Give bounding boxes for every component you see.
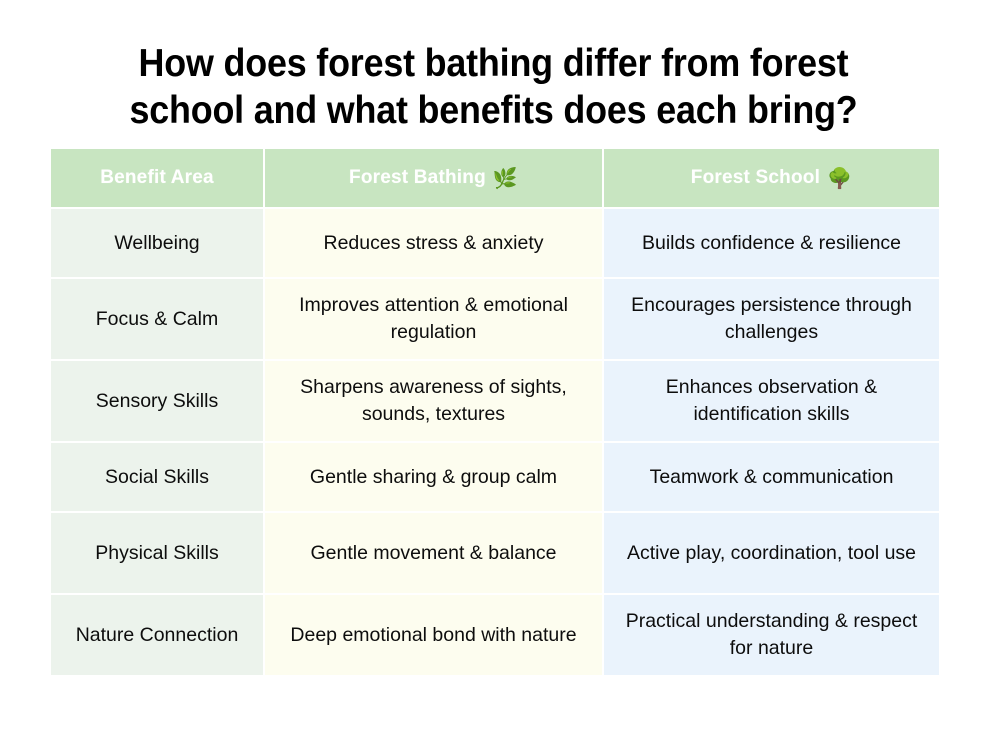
cell-forest-school: Builds confidence & resilience — [604, 209, 939, 277]
column-header-benefit-area-label: Benefit Area — [100, 167, 214, 189]
cell-benefit-area-text: Wellbeing — [63, 230, 251, 257]
cell-forest-bathing-text: Improves attention & emotional regulatio… — [277, 292, 590, 346]
cell-forest-school-text: Encourages persistence through challenge… — [616, 292, 927, 346]
deciduous-tree-icon: 🌳 — [827, 168, 852, 188]
slide-canvas: How does forest bathing differ from fore… — [0, 0, 987, 740]
cell-benefit-area: Physical Skills — [51, 513, 263, 593]
cell-benefit-area-text: Sensory Skills — [63, 388, 251, 415]
cell-forest-school-text: Enhances observation & identification sk… — [616, 374, 927, 428]
cell-benefit-area-text: Physical Skills — [63, 540, 251, 567]
page-title: How does forest bathing differ from fore… — [60, 40, 927, 134]
table-header: Benefit Area Forest Bathing 🌿 Forest Sch… — [51, 149, 939, 207]
cell-benefit-area-text: Social Skills — [63, 464, 251, 491]
herb-leaf-icon: 🌿 — [493, 168, 518, 188]
comparison-table: Benefit Area Forest Bathing 🌿 Forest Sch… — [49, 147, 941, 677]
cell-forest-school: Active play, coordination, tool use — [604, 513, 939, 593]
table-row: Social Skills Gentle sharing & group cal… — [51, 443, 939, 511]
cell-forest-bathing-text: Gentle movement & balance — [277, 540, 590, 567]
cell-forest-bathing: Gentle sharing & group calm — [265, 443, 602, 511]
cell-forest-bathing-text: Deep emotional bond with nature — [277, 622, 590, 649]
cell-forest-school-text: Teamwork & communication — [616, 464, 927, 491]
cell-forest-bathing-text: Sharpens awareness of sights, sounds, te… — [277, 374, 590, 428]
page-title-line-2: school and what benefits does each bring… — [95, 87, 893, 134]
cell-forest-bathing-text: Gentle sharing & group calm — [277, 464, 590, 491]
table-row: Focus & Calm Improves attention & emotio… — [51, 279, 939, 359]
cell-benefit-area-text: Nature Connection — [63, 622, 251, 649]
column-header-forest-bathing-label: Forest Bathing — [349, 167, 486, 189]
table-row: Sensory Skills Sharpens awareness of sig… — [51, 361, 939, 441]
cell-forest-school-text: Builds confidence & resilience — [616, 230, 927, 257]
column-header-forest-school: Forest School 🌳 — [604, 149, 939, 207]
cell-forest-school-text: Practical understanding & respect for na… — [616, 608, 927, 662]
column-header-forest-bathing: Forest Bathing 🌿 — [265, 149, 602, 207]
cell-benefit-area: Sensory Skills — [51, 361, 263, 441]
table-body: Wellbeing Reduces stress & anxiety Build… — [51, 209, 939, 675]
column-header-forest-school-label: Forest School — [691, 167, 820, 189]
table-header-row: Benefit Area Forest Bathing 🌿 Forest Sch… — [51, 149, 939, 207]
table-row: Physical Skills Gentle movement & balanc… — [51, 513, 939, 593]
cell-benefit-area: Social Skills — [51, 443, 263, 511]
cell-forest-bathing: Gentle movement & balance — [265, 513, 602, 593]
cell-forest-school: Enhances observation & identification sk… — [604, 361, 939, 441]
cell-forest-bathing: Reduces stress & anxiety — [265, 209, 602, 277]
table-row: Nature Connection Deep emotional bond wi… — [51, 595, 939, 675]
cell-forest-school: Teamwork & communication — [604, 443, 939, 511]
cell-forest-school-text: Active play, coordination, tool use — [616, 540, 927, 567]
column-header-benefit-area: Benefit Area — [51, 149, 263, 207]
cell-benefit-area: Nature Connection — [51, 595, 263, 675]
cell-forest-school: Encourages persistence through challenge… — [604, 279, 939, 359]
cell-benefit-area: Wellbeing — [51, 209, 263, 277]
cell-benefit-area: Focus & Calm — [51, 279, 263, 359]
cell-benefit-area-text: Focus & Calm — [63, 306, 251, 333]
cell-forest-bathing: Sharpens awareness of sights, sounds, te… — [265, 361, 602, 441]
cell-forest-bathing-text: Reduces stress & anxiety — [277, 230, 590, 257]
page-title-line-1: How does forest bathing differ from fore… — [95, 40, 893, 87]
cell-forest-school: Practical understanding & respect for na… — [604, 595, 939, 675]
cell-forest-bathing: Improves attention & emotional regulatio… — [265, 279, 602, 359]
cell-forest-bathing: Deep emotional bond with nature — [265, 595, 602, 675]
table-row: Wellbeing Reduces stress & anxiety Build… — [51, 209, 939, 277]
